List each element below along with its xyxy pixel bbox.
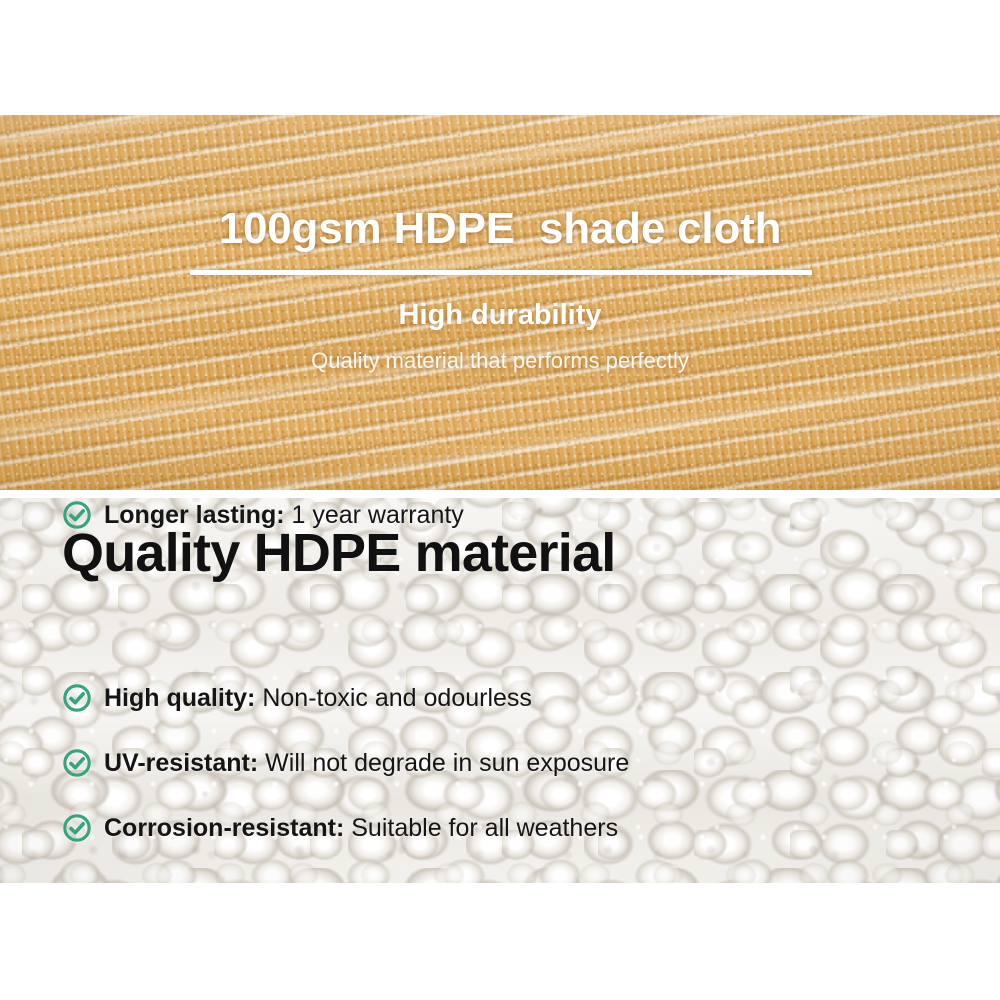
hero-divider-rule xyxy=(190,270,812,275)
feature-description: Will not degrade in sun exposure xyxy=(258,749,629,777)
hero-tagline: Quality material that performs perfectly xyxy=(0,350,1000,372)
hero-subtitle: High durability xyxy=(0,301,1000,330)
feature-description: 1 year warranty xyxy=(285,501,464,529)
feature-description: Non-toxic and odourless xyxy=(255,684,532,712)
feature-row-corrosion-resistant: Corrosion-resistant: Suitable for all we… xyxy=(62,811,618,845)
feature-description: Suitable for all weathers xyxy=(344,814,618,842)
hero-title: 100gsm HDPE shade cloth xyxy=(0,207,1000,251)
feature-label: Corrosion-resistant: xyxy=(104,814,344,842)
check-circle-icon xyxy=(62,748,92,778)
feature-row-longer-lasting: Longer lasting: 1 year warranty xyxy=(62,498,464,532)
check-circle-icon xyxy=(62,813,92,843)
feature-label: High quality: xyxy=(104,684,255,712)
material-heading: Quality HDPE material xyxy=(62,526,615,580)
material-text-block: Quality HDPE material High quality: Non-… xyxy=(0,498,1000,883)
check-circle-icon xyxy=(62,500,92,530)
feature-label: Longer lasting: xyxy=(104,501,285,529)
feature-text: UV-resistant: Will not degrade in sun ex… xyxy=(104,751,629,776)
shade-cloth-photo-panel: 100gsm HDPE shade cloth High durability … xyxy=(0,115,1000,490)
feature-row-uv-resistant: UV-resistant: Will not degrade in sun ex… xyxy=(62,746,629,780)
product-infographic: 100gsm HDPE shade cloth High durability … xyxy=(0,0,1000,1000)
feature-text: Corrosion-resistant: Suitable for all we… xyxy=(104,816,618,841)
check-circle-icon xyxy=(62,683,92,713)
panel-separator xyxy=(0,490,1000,498)
feature-row-high-quality: High quality: Non-toxic and odourless xyxy=(62,681,532,715)
feature-text: High quality: Non-toxic and odourless xyxy=(104,686,532,711)
shade-cloth-text-block: 100gsm HDPE shade cloth High durability … xyxy=(0,115,1000,490)
hdpe-pellets-photo-panel: Quality HDPE material High quality: Non-… xyxy=(0,498,1000,883)
feature-label: UV-resistant: xyxy=(104,749,258,777)
feature-text: Longer lasting: 1 year warranty xyxy=(104,503,464,528)
